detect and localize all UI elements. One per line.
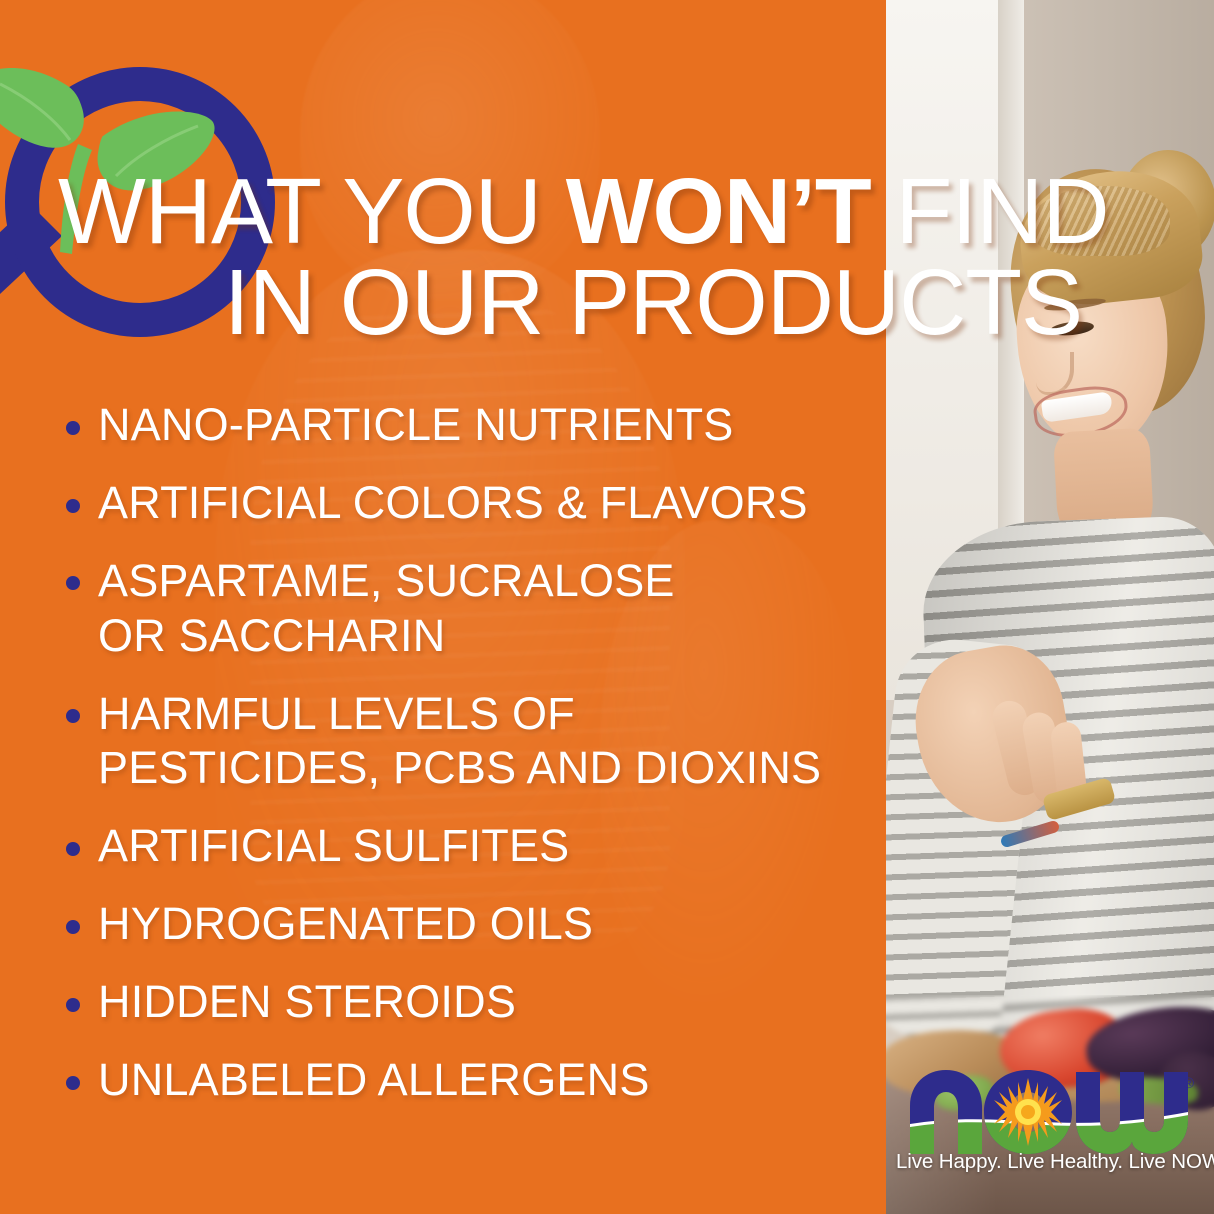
list-item: HIDDEN STEROIDS xyxy=(62,975,882,1030)
list-item-line-2: OR SACCHARIN xyxy=(98,609,882,664)
list-item-line-1: HYDROGENATED OILS xyxy=(98,898,593,949)
page-title: WHAT YOU WON’T FIND IN OUR PRODUCTS xyxy=(58,166,1178,348)
list-item-line-1: HIDDEN STEROIDS xyxy=(98,976,516,1027)
list-item-line-2: PESTICIDES, PCBS AND DIOXINS xyxy=(98,741,882,796)
excluded-ingredients-list: NANO-PARTICLE NUTRIENTS ARTIFICIAL COLOR… xyxy=(62,398,882,1131)
list-item-line-1: ARTIFICIAL SULFITES xyxy=(98,820,569,871)
list-item-line-1: UNLABELED ALLERGENS xyxy=(98,1054,650,1105)
promotional-poster: WHAT YOU WON’T FIND IN OUR PRODUCTS NANO… xyxy=(0,0,1214,1214)
list-item: ARTIFICIAL SULFITES xyxy=(62,819,882,874)
list-item-line-1: HARMFUL LEVELS OF xyxy=(98,688,575,739)
registered-trademark-symbol: ® xyxy=(1183,1075,1194,1092)
headline-part-1: WHAT YOU xyxy=(58,159,566,263)
list-item: ARTIFICIAL COLORS & FLAVORS xyxy=(62,476,882,531)
headline-line-2: IN OUR PRODUCTS xyxy=(128,257,1178,348)
headline-part-2: FIND xyxy=(871,159,1109,263)
headline-emphasis: WON’T xyxy=(566,159,871,263)
list-item: UNLABELED ALLERGENS xyxy=(62,1053,882,1108)
list-item-line-1: ARTIFICIAL COLORS & FLAVORS xyxy=(98,477,808,528)
list-item: HARMFUL LEVELS OF PESTICIDES, PCBS AND D… xyxy=(62,687,882,797)
list-item: HYDROGENATED OILS xyxy=(62,897,882,952)
brand-tagline: Live Happy. Live Healthy. Live NOW. xyxy=(896,1150,1196,1174)
list-item: ASPARTAME, SUCRALOSE OR SACCHARIN xyxy=(62,554,882,664)
now-brand-logo: ® xyxy=(896,1062,1196,1162)
list-item-line-1: NANO-PARTICLE NUTRIENTS xyxy=(98,399,734,450)
list-item-line-1: ASPARTAME, SUCRALOSE xyxy=(98,555,675,606)
list-item: NANO-PARTICLE NUTRIENTS xyxy=(62,398,882,453)
